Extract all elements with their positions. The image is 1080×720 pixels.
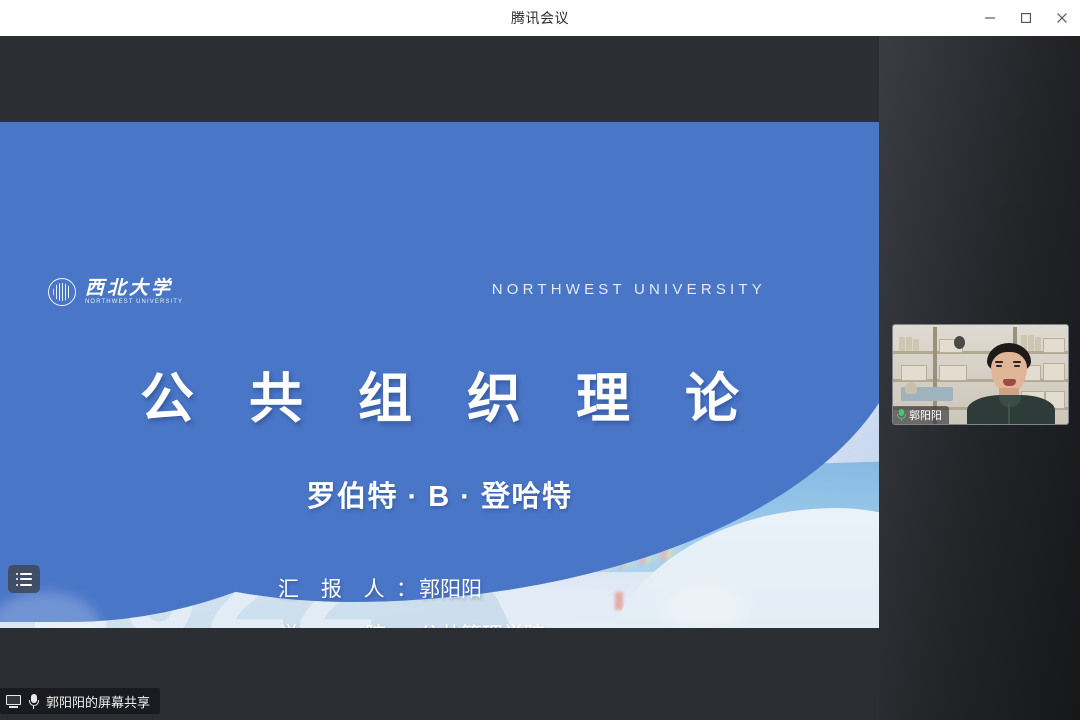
- slide-subtitle: 罗伯特 · B · 登哈特: [0, 473, 879, 515]
- tencent-meeting-window: 腾讯会议: [0, 0, 1080, 720]
- participant-name: 郭阳阳: [909, 407, 942, 423]
- meta-colon: ：: [396, 619, 417, 628]
- university-name-en-right: NORTHWEST UNIVERSITY: [492, 281, 766, 298]
- meta-label: 学 院: [278, 619, 396, 628]
- participant-video-tile[interactable]: 郭阳阳: [892, 324, 1069, 425]
- participant-name-bar: 郭阳阳: [893, 406, 949, 424]
- slide-title: 公 共 组 织 理 论: [0, 354, 879, 433]
- list-icon: [16, 573, 33, 586]
- meta-value: 公共管理学院: [419, 619, 545, 628]
- screen-share-badge: 郭阳阳的屏幕共享: [0, 688, 160, 714]
- meeting-body: 2022 西北大学 NORTHWEST UNIVERSITY NORTHWEST…: [0, 36, 1080, 720]
- meta-label: 汇 报 人: [278, 573, 396, 603]
- monitor-icon: [6, 695, 21, 708]
- slide-outline-button[interactable]: [8, 565, 40, 593]
- presentation-slide[interactable]: 2022 西北大学 NORTHWEST UNIVERSITY NORTHWEST…: [0, 122, 879, 628]
- meta-row-presenter: 汇 报 人：郭阳阳: [278, 573, 545, 603]
- maximize-button[interactable]: [1008, 0, 1044, 36]
- meta-row-school: 学 院：公共管理学院: [278, 619, 545, 628]
- slide-content: 西北大学 NORTHWEST UNIVERSITY NORTHWEST UNIV…: [0, 122, 879, 628]
- meta-value: 郭阳阳: [419, 573, 482, 603]
- participant-figure: [971, 343, 1051, 425]
- title-bar: 腾讯会议: [0, 0, 1080, 37]
- participant-panel: 郭阳阳: [879, 36, 1080, 720]
- close-button[interactable]: [1044, 0, 1080, 36]
- mic-icon: [28, 694, 39, 709]
- shared-screen-stage[interactable]: 2022 西北大学 NORTHWEST UNIVERSITY NORTHWEST…: [0, 36, 879, 720]
- university-seal-icon: [48, 278, 76, 306]
- university-logo-text: 西北大学 NORTHWEST UNIVERSITY: [85, 279, 183, 306]
- minimize-button[interactable]: [972, 0, 1008, 36]
- screen-share-label: 郭阳阳的屏幕共享: [46, 692, 150, 711]
- university-logo: 西北大学 NORTHWEST UNIVERSITY: [48, 278, 183, 306]
- slide-meta-list: 汇 报 人：郭阳阳 学 院：公共管理学院 学 号：202220045: [278, 573, 545, 628]
- mic-on-icon: [897, 409, 906, 421]
- meta-colon: ：: [396, 573, 417, 603]
- university-name-cn: 西北大学: [85, 279, 183, 299]
- university-name-en-small: NORTHWEST UNIVERSITY: [85, 299, 183, 305]
- window-controls: [972, 0, 1080, 36]
- window-title: 腾讯会议: [511, 8, 569, 28]
